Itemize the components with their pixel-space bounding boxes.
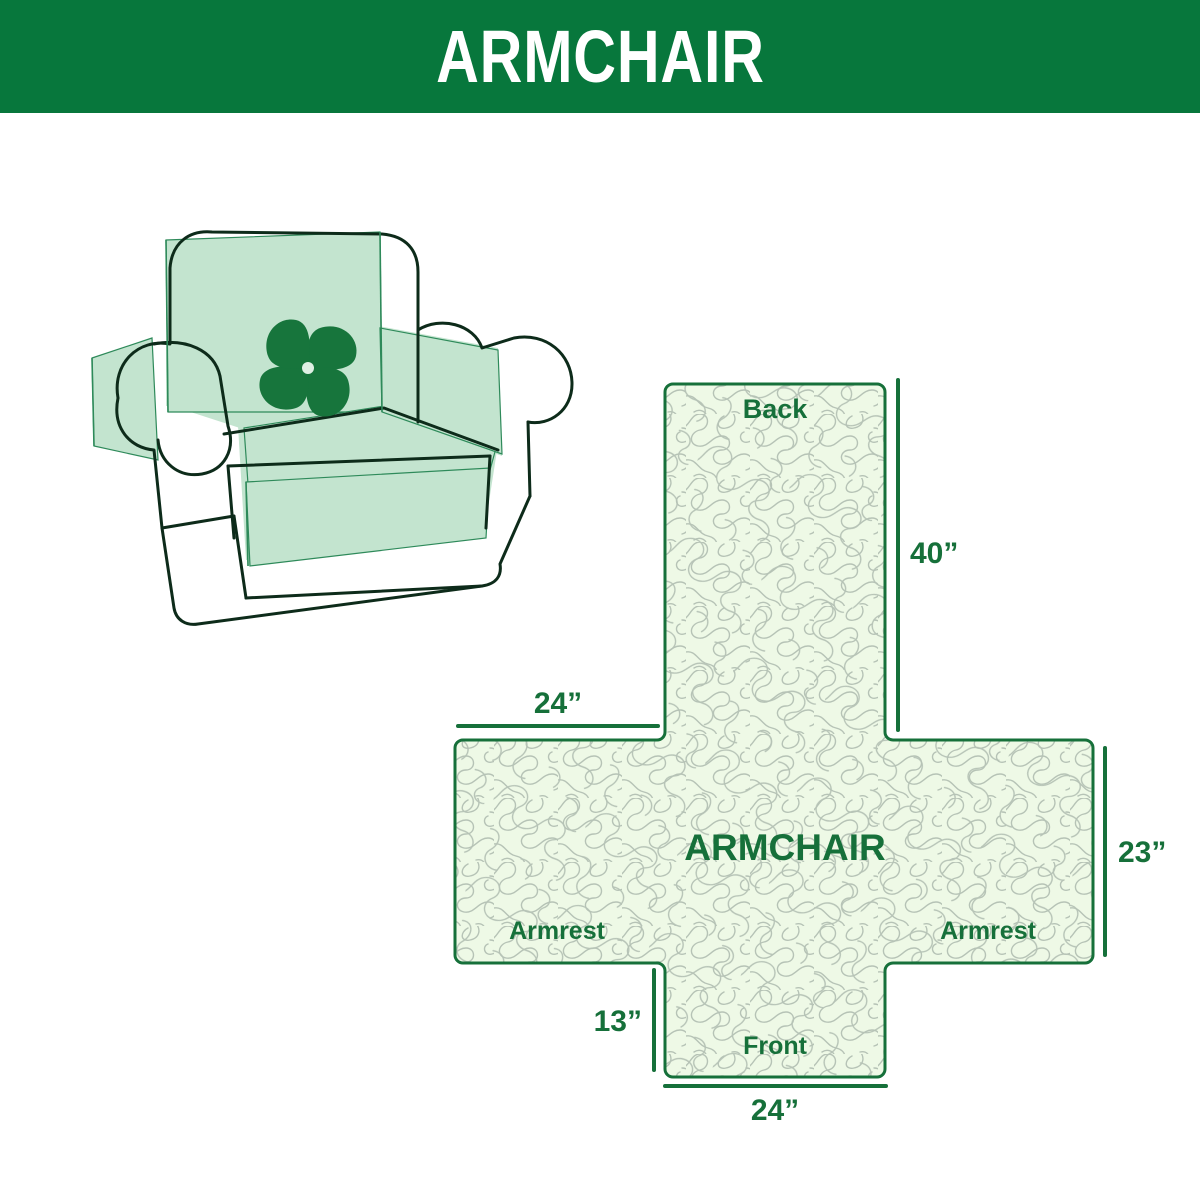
- page-title: ARMCHAIR: [436, 20, 765, 94]
- page-root: ARMCHAIR: [0, 0, 1200, 1200]
- dimension-value-23: 23”: [1118, 836, 1166, 869]
- center-label: ARMCHAIR: [684, 827, 885, 868]
- dimension-value-40: 40”: [910, 537, 958, 570]
- panel-label-back: Back: [743, 394, 809, 424]
- fan-blade-logo: [259, 319, 356, 416]
- dimension-value-24-top: 24”: [534, 687, 582, 720]
- dimension-value-24-bottom: 24”: [751, 1094, 799, 1127]
- panel-label-armrest-right: Armrest: [940, 917, 1037, 945]
- dimension-back-length: 40”: [898, 380, 958, 730]
- cover-shape: [430, 350, 1200, 1150]
- panel-label-armrest-left: Armrest: [509, 917, 606, 945]
- dimension-back-width: 24”: [458, 687, 658, 726]
- dimension-arm-span-depth: 23”: [1105, 748, 1166, 955]
- dimension-front-width: 24”: [665, 1086, 886, 1127]
- dimension-front-drop: 13”: [594, 970, 654, 1070]
- panel-label-front: Front: [743, 1032, 808, 1060]
- cover-flat-lay-diagram: Back ARMCHAIR Armrest Armrest Front 40” …: [430, 350, 1200, 1150]
- header-banner: ARMCHAIR: [0, 0, 1200, 113]
- dimension-value-13: 13”: [594, 1005, 642, 1038]
